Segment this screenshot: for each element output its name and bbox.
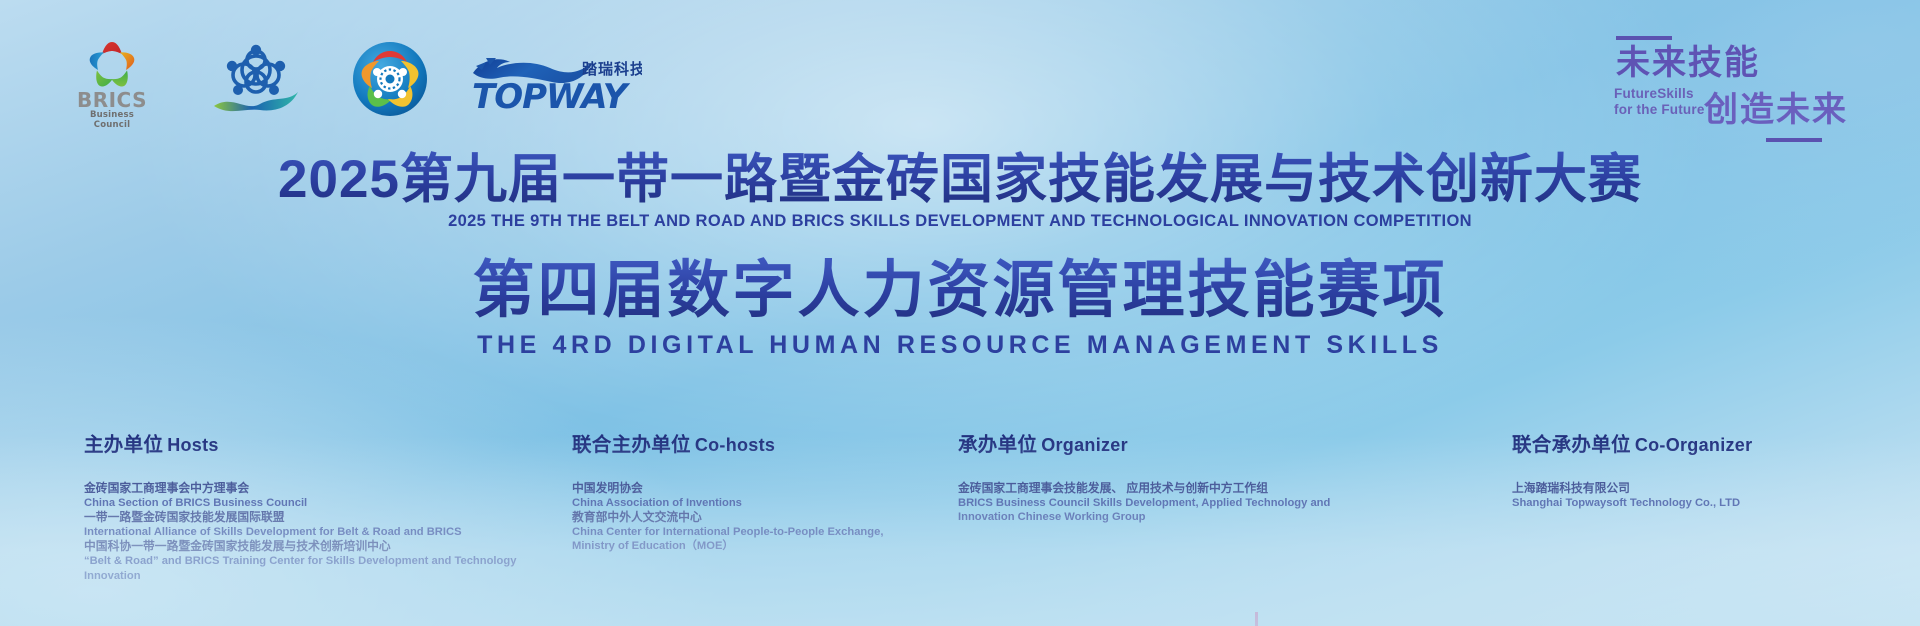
- organizer-title-en: Hosts: [167, 435, 219, 455]
- competition-poster: BRICS Business Council: [0, 0, 1920, 626]
- logo-strip: BRICS Business Council: [76, 38, 642, 120]
- organizer-column-title: 联合主办单位Co-hosts: [572, 428, 902, 457]
- organizer-title-cn: 联合主办单位: [572, 434, 691, 456]
- organizer-entry-cn: 金砖国家工商理事会技能发展、 应用技术与创新中方工作组: [958, 481, 1378, 496]
- brics-star-icon: [87, 40, 137, 88]
- organizer-title-en: Co-hosts: [695, 435, 775, 455]
- brics-business-council-logo: BRICS Business Council: [76, 40, 148, 118]
- organizer-column-hosts: 主办单位Hosts 金砖国家工商理事会中方理事会 China Section o…: [84, 428, 554, 583]
- organizer-column-title: 主办单位Hosts: [84, 428, 554, 457]
- organizer-entry-en: China Association of Inventions: [572, 496, 902, 511]
- organizer-entry-cn: 一带一路暨金砖国家技能发展国际联盟: [84, 510, 554, 525]
- organizer-column-title: 联合承办单位Co-Organizer: [1512, 428, 1892, 457]
- organizer-title-cn: 主办单位: [84, 434, 163, 456]
- organizer-columns: 主办单位Hosts 金砖国家工商理事会中方理事会 China Section o…: [0, 428, 1920, 608]
- organizer-column-co-organizer: 联合承办单位Co-Organizer 上海踏瑞科技有限公司 Shanghai T…: [1512, 428, 1892, 510]
- organizer-title-en: Co-Organizer: [1635, 435, 1753, 455]
- headline-cn: 2025第九届一带一路暨金砖国家技能发展与技术创新大赛: [0, 150, 1920, 210]
- organizer-title-en: Organizer: [1041, 435, 1128, 455]
- organizer-entries: 上海踏瑞科技有限公司 Shanghai Topwaysoft Technolog…: [1512, 481, 1892, 510]
- organizer-entry-cn: 中国发明协会: [572, 481, 902, 496]
- slogan-cn-line2: 创造未来: [1704, 90, 1848, 130]
- slogan-top-rule: [1616, 36, 1672, 40]
- event-subhead: 第四届数字人力资源管理技能赛项 THE 4RD DIGITAL HUMAN RE…: [0, 255, 1920, 360]
- organizer-entries: 金砖国家工商理事会技能发展、 应用技术与创新中方工作组 BRICS Busine…: [958, 481, 1378, 525]
- slogan-bottom-rule: [1766, 138, 1822, 142]
- slogan-cn-line1: 未来技能: [1616, 44, 1760, 82]
- skills-competition-emblem-logo: [352, 41, 428, 117]
- organizer-title-cn: 联合承办单位: [1512, 434, 1631, 456]
- organizer-entry-en: International Alliance of Skills Develop…: [84, 525, 554, 540]
- organizer-entry-en: BRICS Business Council Skills Developmen…: [958, 496, 1378, 525]
- belt-and-road-alliance-logo: [210, 42, 302, 116]
- organizer-entry-cn: 金砖国家工商理事会中方理事会: [84, 481, 554, 496]
- organizer-column-organizer: 承办单位Organizer 金砖国家工商理事会技能发展、 应用技术与创新中方工作…: [958, 428, 1378, 525]
- future-skills-slogan: 未来技能 FutureSkills for the Future 创造未来: [1600, 28, 1870, 146]
- slogan-en-line1: FutureSkills: [1614, 86, 1705, 102]
- brics-subtext: Business Council: [76, 110, 148, 130]
- subhead-cn: 第四届数字人力资源管理技能赛项: [0, 255, 1920, 327]
- organizer-entry-cn: 教育部中外人文交流中心: [572, 510, 902, 525]
- organizer-column-title: 承办单位Organizer: [958, 428, 1378, 457]
- bottom-edge-marker: [1255, 612, 1258, 626]
- slogan-en: FutureSkills for the Future: [1614, 86, 1705, 118]
- subhead-en: THE 4RD DIGITAL HUMAN RESOURCE MANAGEMEN…: [0, 331, 1920, 360]
- organizer-entry-cn: 中国科协一带一路暨金砖国家技能发展与技术创新培训中心: [84, 539, 554, 554]
- topway-logo: TOPWAY 踏瑞科技: [470, 48, 642, 110]
- organizer-column-co-hosts: 联合主办单位Co-hosts 中国发明协会 China Association …: [572, 428, 902, 554]
- organizer-entries: 中国发明协会 China Association of Inventions 教…: [572, 481, 902, 554]
- svg-text:踏瑞科技: 踏瑞科技: [582, 60, 642, 78]
- organizer-title-cn: 承办单位: [958, 434, 1037, 456]
- organizer-entry-en: China Center for International People-to…: [572, 525, 902, 554]
- slogan-en-line2: for the Future: [1614, 102, 1705, 118]
- headline-en: 2025 THE 9TH THE BELT AND ROAD AND BRICS…: [0, 212, 1920, 231]
- organizer-entry-en: “Belt & Road” and BRICS Training Center …: [84, 554, 554, 583]
- organizer-entry-en: Shanghai Topwaysoft Technology Co., LTD: [1512, 496, 1892, 511]
- organizer-entry-en: China Section of BRICS Business Council: [84, 496, 554, 511]
- organizer-entry-cn: 上海踏瑞科技有限公司: [1512, 481, 1892, 496]
- svg-text:TOPWAY: TOPWAY: [472, 77, 631, 112]
- brics-wordmark: BRICS: [76, 90, 148, 110]
- organizer-entries: 金砖国家工商理事会中方理事会 China Section of BRICS Bu…: [84, 481, 554, 583]
- competition-headline: 2025第九届一带一路暨金砖国家技能发展与技术创新大赛 2025 THE 9TH…: [0, 150, 1920, 231]
